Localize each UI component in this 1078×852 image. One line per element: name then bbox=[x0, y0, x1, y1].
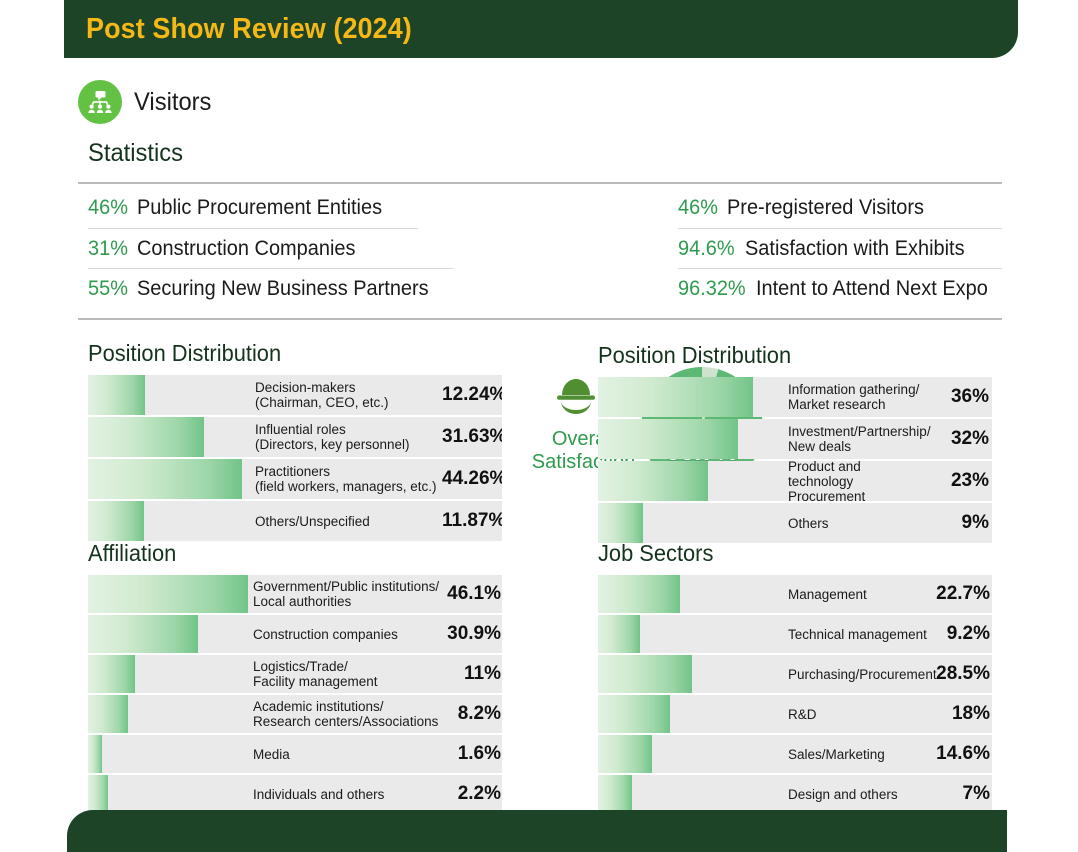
bar-row: Construction companies30.9% bbox=[88, 615, 502, 653]
bar-label: Academic institutions/ Research centers/… bbox=[253, 699, 443, 729]
statistic-percent: 55% bbox=[88, 277, 128, 301]
bar-row: Sales/Marketing14.6% bbox=[598, 735, 992, 773]
bar-fill bbox=[598, 735, 652, 773]
bar-fill bbox=[88, 459, 242, 499]
bar-label: R&D bbox=[788, 707, 928, 722]
visitors-label: Visitors bbox=[134, 88, 211, 117]
bar-fill bbox=[598, 655, 692, 693]
bar-fill bbox=[88, 695, 128, 733]
statistic-label: Satisfaction with Exhibits bbox=[745, 237, 965, 261]
bar-fill bbox=[598, 575, 680, 613]
bar-row: Others9% bbox=[598, 503, 992, 543]
bar-label: Government/Public institutions/ Local au… bbox=[253, 579, 443, 609]
hard-hat-icon bbox=[548, 376, 604, 423]
statistic-percent: 31% bbox=[88, 237, 128, 261]
bar-fill bbox=[88, 501, 144, 541]
page-title: Post Show Review (2024) bbox=[86, 13, 412, 46]
bar-value: 32% bbox=[937, 428, 992, 450]
bar-row: Academic institutions/ Research centers/… bbox=[88, 695, 502, 733]
chart-panel-position-distribution-right: Position Distribution Information gather… bbox=[598, 342, 992, 545]
statistics-divider-bottom bbox=[78, 318, 1002, 320]
bar-rows: Management22.7%Technical management9.2%P… bbox=[598, 575, 992, 813]
bar-label: Media bbox=[253, 747, 443, 762]
statistics-block: 46% Public Procurement Entities 31% Cons… bbox=[78, 182, 1002, 320]
bar-rows: Government/Public institutions/ Local au… bbox=[88, 575, 502, 813]
bar-row: R&D18% bbox=[598, 695, 992, 733]
statistic-label: Intent to Attend Next Expo bbox=[756, 277, 988, 301]
bar-label: Information gathering/ Market research bbox=[788, 382, 928, 412]
chart-title: Position Distribution bbox=[598, 342, 972, 369]
bar-label: Decision-makers (Chairman, CEO, etc.) bbox=[255, 380, 440, 410]
bar-label: Logistics/Trade/ Facility management bbox=[253, 659, 443, 689]
bar-value: 18% bbox=[930, 703, 992, 725]
bar-value: 11% bbox=[446, 663, 502, 685]
bar-row: Others/Unspecified11.87% bbox=[88, 501, 502, 541]
bar-value: 8.2% bbox=[446, 703, 502, 725]
bar-value: 31.63% bbox=[442, 426, 502, 448]
bar-label: Influential roles (Directors, key person… bbox=[255, 422, 440, 452]
bar-fill bbox=[88, 417, 204, 457]
bar-label: Purchasing/Procurement bbox=[788, 667, 928, 682]
statistic-item: 46% Pre-registered Visitors bbox=[678, 188, 1002, 228]
bar-row: Product and technology Procurement23% bbox=[598, 461, 992, 501]
statistics-divider-top bbox=[78, 182, 1002, 184]
statistic-item: 31% Construction Companies bbox=[88, 228, 418, 268]
header-bar: Post Show Review (2024) bbox=[64, 0, 1018, 58]
bar-fill bbox=[598, 419, 738, 459]
statistic-label: Securing New Business Partners bbox=[137, 277, 429, 301]
bar-fill bbox=[598, 695, 670, 733]
bar-rows: Information gathering/ Market research36… bbox=[598, 377, 992, 543]
statistics-title: Statistics bbox=[88, 139, 183, 168]
bar-label: Management bbox=[788, 587, 928, 602]
chart-panel-affiliation: Affiliation Government/Public institutio… bbox=[88, 540, 502, 815]
bar-label: Others bbox=[788, 516, 928, 531]
bar-value: 11.87% bbox=[442, 510, 502, 532]
bar-row: Practitioners (field workers, managers, … bbox=[88, 459, 502, 499]
bar-label: Others/Unspecified bbox=[255, 514, 440, 529]
bar-value: 14.6% bbox=[930, 743, 992, 765]
bar-fill bbox=[88, 735, 102, 773]
bar-fill bbox=[88, 615, 198, 653]
statistics-right-column: 46% Pre-registered Visitors 94.6% Satisf… bbox=[678, 188, 1002, 308]
statistic-label: Public Procurement Entities bbox=[137, 196, 382, 220]
bar-label: Sales/Marketing bbox=[788, 747, 928, 762]
bar-fill bbox=[88, 575, 248, 613]
people-network-icon bbox=[78, 80, 122, 124]
chart-panel-position-distribution-left: Position Distribution Decision-makers (C… bbox=[88, 340, 502, 543]
bar-row: Individuals and others2.2% bbox=[88, 775, 502, 813]
bar-row: Management22.7% bbox=[598, 575, 992, 613]
statistic-item: 96.32% Intent to Attend Next Expo bbox=[678, 268, 1002, 308]
bar-value: 30.9% bbox=[446, 623, 502, 645]
bar-label: Investment/Partnership/ New deals bbox=[788, 424, 928, 454]
bar-value: 9.2% bbox=[930, 623, 992, 645]
post-show-review-infographic: Post Show Review (2024) Visitors Statist… bbox=[0, 0, 1078, 852]
footer-bar bbox=[67, 810, 1007, 852]
bar-value: 12.24% bbox=[442, 384, 502, 406]
bar-label: Practitioners (field workers, managers, … bbox=[255, 464, 440, 494]
bar-row: Technical management9.2% bbox=[598, 615, 992, 653]
bar-fill bbox=[598, 377, 753, 417]
bar-value: 28.5% bbox=[930, 663, 992, 685]
bar-value: 36% bbox=[937, 386, 992, 408]
bar-fill bbox=[598, 775, 632, 813]
bar-fill bbox=[88, 655, 135, 693]
statistic-percent: 46% bbox=[88, 196, 128, 220]
statistic-percent: 46% bbox=[678, 196, 718, 220]
chart-title: Affiliation bbox=[88, 540, 481, 567]
bar-value: 44.26% bbox=[442, 468, 502, 490]
statistic-item: 46% Public Procurement Entities bbox=[88, 188, 428, 228]
bar-label: Construction companies bbox=[253, 627, 443, 642]
bar-row: Logistics/Trade/ Facility management11% bbox=[88, 655, 502, 693]
bar-rows: Decision-makers (Chairman, CEO, etc.)12.… bbox=[88, 375, 502, 541]
bar-row: Influential roles (Directors, key person… bbox=[88, 417, 502, 457]
bar-label: Product and technology Procurement bbox=[788, 461, 928, 501]
bar-fill bbox=[88, 375, 145, 415]
bar-row: Information gathering/ Market research36… bbox=[598, 377, 992, 417]
bar-fill bbox=[598, 503, 643, 543]
statistic-percent: 96.32% bbox=[678, 277, 746, 301]
chart-panel-job-sectors: Job Sectors Management22.7%Technical man… bbox=[598, 540, 992, 815]
bar-row: Media1.6% bbox=[88, 735, 502, 773]
statistic-item: 55% Securing New Business Partners bbox=[88, 268, 453, 308]
bar-value: 7% bbox=[930, 783, 992, 805]
bar-value: 1.6% bbox=[446, 743, 502, 765]
bar-label: Design and others bbox=[788, 787, 928, 802]
bar-row: Purchasing/Procurement28.5% bbox=[598, 655, 992, 693]
statistics-left-column: 46% Public Procurement Entities 31% Cons… bbox=[88, 188, 440, 308]
statistic-label: Pre-registered Visitors bbox=[727, 196, 924, 220]
bar-row: Government/Public institutions/ Local au… bbox=[88, 575, 502, 613]
bar-row: Investment/Partnership/ New deals32% bbox=[598, 419, 992, 459]
chart-title: Job Sectors bbox=[598, 540, 972, 567]
bar-row: Design and others7% bbox=[598, 775, 992, 813]
bar-fill bbox=[598, 461, 708, 501]
bar-value: 46.1% bbox=[446, 583, 502, 605]
bar-row: Decision-makers (Chairman, CEO, etc.)12.… bbox=[88, 375, 502, 415]
chart-title: Position Distribution bbox=[88, 340, 481, 367]
bar-fill bbox=[598, 615, 640, 653]
statistic-item: 94.6% Satisfaction with Exhibits bbox=[678, 228, 1002, 268]
bar-label: Technical management bbox=[788, 627, 928, 642]
bar-value: 23% bbox=[937, 470, 992, 492]
statistic-label: Construction Companies bbox=[137, 237, 355, 261]
bar-label: Individuals and others bbox=[253, 787, 443, 802]
bar-value: 22.7% bbox=[930, 583, 992, 605]
visitors-section-header: Visitors bbox=[78, 80, 216, 124]
statistic-percent: 94.6% bbox=[678, 237, 735, 261]
bar-value: 2.2% bbox=[446, 783, 502, 805]
bar-fill bbox=[88, 775, 108, 813]
bar-value: 9% bbox=[937, 512, 992, 534]
